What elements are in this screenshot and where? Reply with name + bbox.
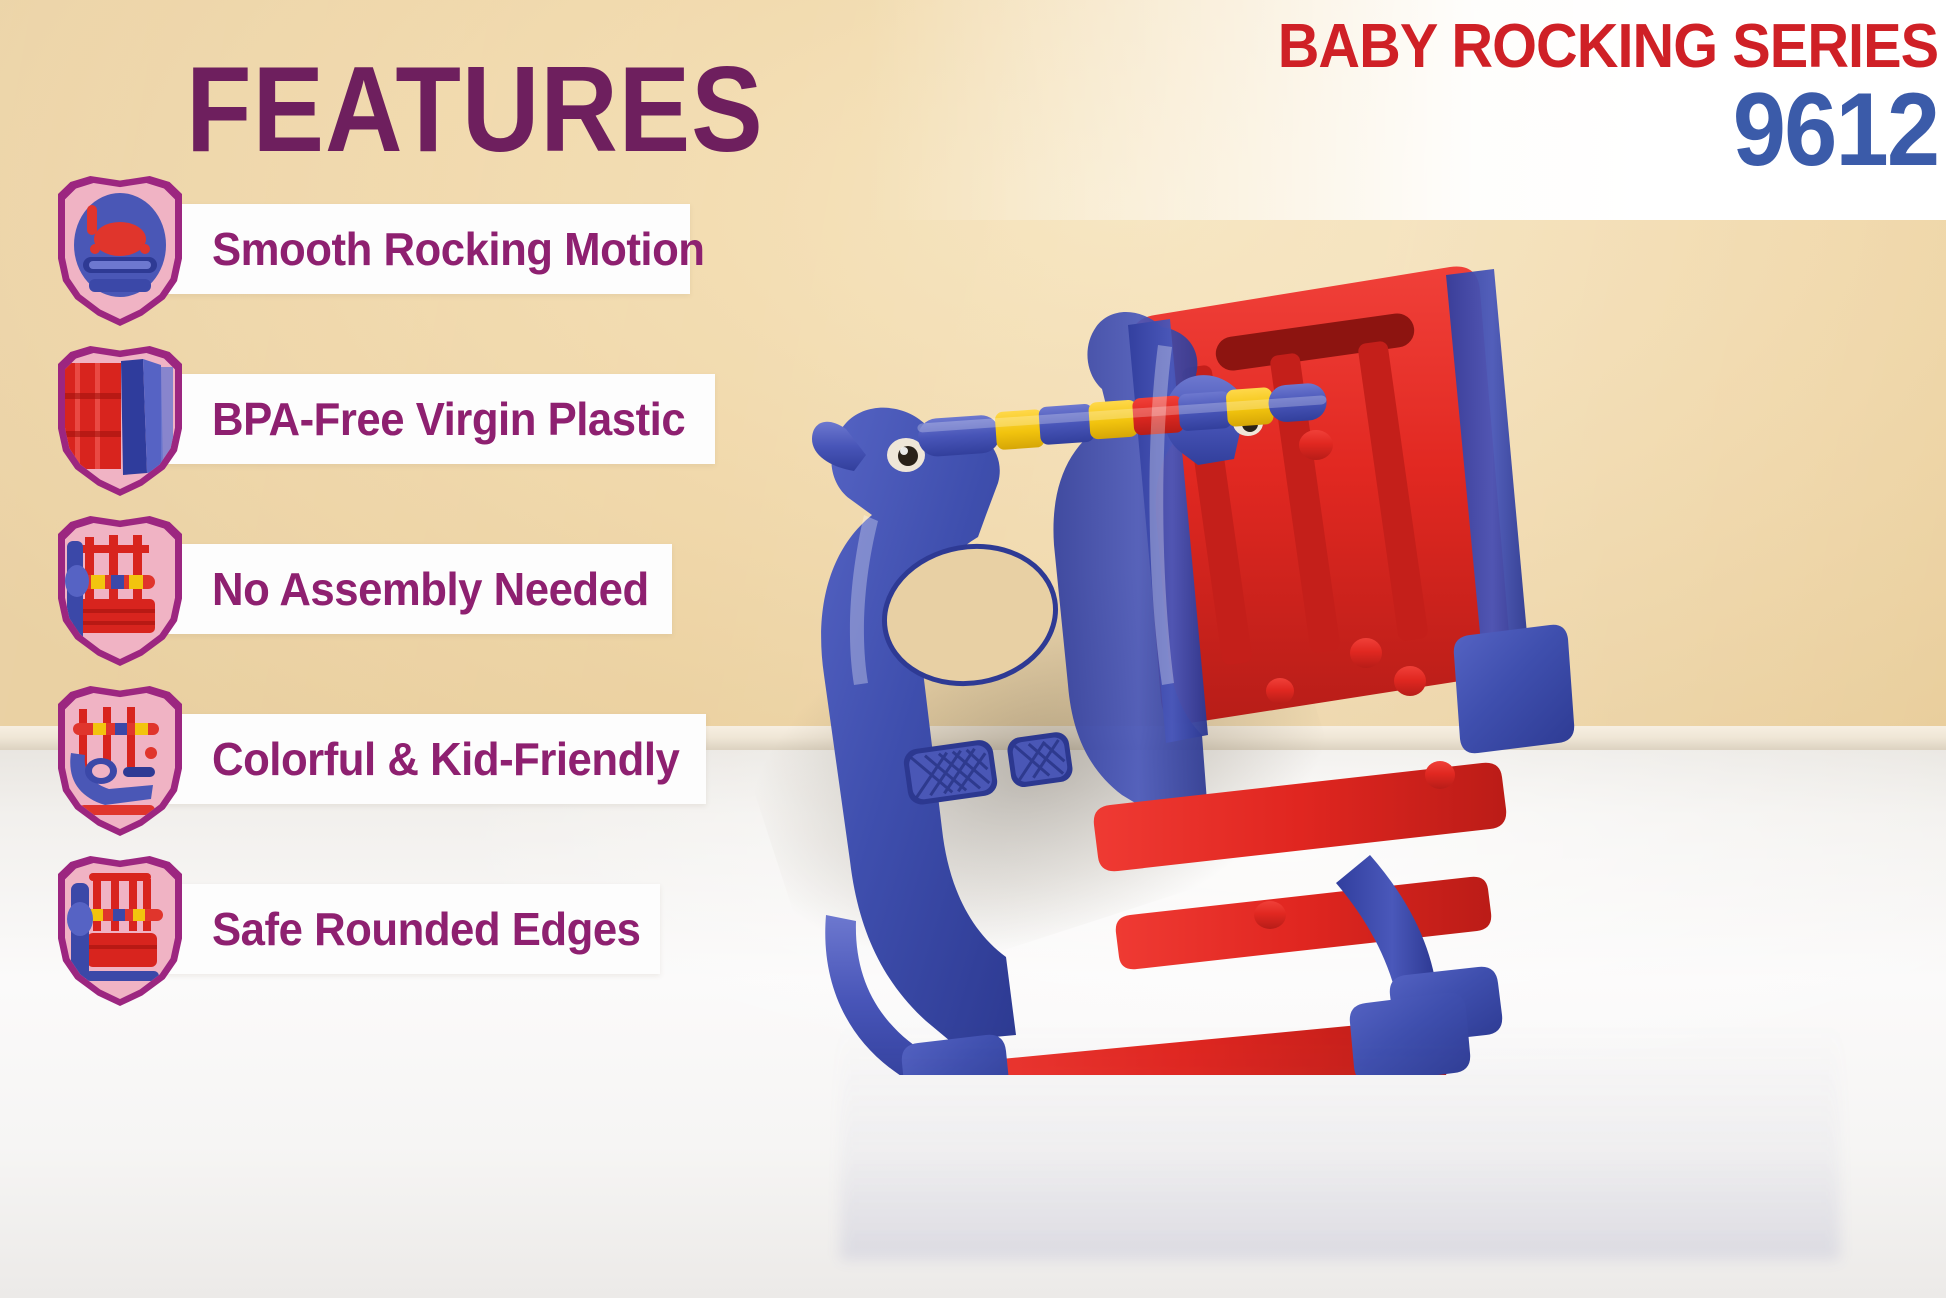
product-feature-poster: BABY ROCKING SERIES 9612 FEATURES <box>0 0 1946 1298</box>
feature-band: Smooth Rocking Motion <box>164 204 690 294</box>
feature-label-safe-rounded-edges: Safe Rounded Edges <box>212 902 641 956</box>
product-lower-rail <box>1116 877 1491 970</box>
shield-badge-no-assembly-needed <box>58 516 182 666</box>
feature-label-smooth-rocking-motion: Smooth Rocking Motion <box>212 222 705 276</box>
model-number: 9612 <box>1285 81 1938 180</box>
feature-band: No Assembly Needed <box>164 544 672 634</box>
product-rocking-chair-svg <box>810 215 1920 1075</box>
feature-label-no-assembly-needed: No Assembly Needed <box>212 562 649 616</box>
product-image <box>810 215 1920 1075</box>
feature-band: BPA-Free Virgin Plastic <box>164 374 715 464</box>
shield-badge-colorful-kid-friendly <box>58 686 182 836</box>
header-text-group: BABY ROCKING SERIES 9612 <box>1228 18 1938 180</box>
shield-badge-safe-rounded-edges <box>58 856 182 1006</box>
feature-label-bpa-free-virgin-plastic: BPA-Free Virgin Plastic <box>212 392 685 446</box>
feature-label-colorful-kid-friendly: Colorful & Kid-Friendly <box>212 732 679 786</box>
feature-band: Colorful & Kid-Friendly <box>164 714 706 804</box>
series-title: BABY ROCKING SERIES <box>1278 18 1938 77</box>
feature-band: Safe Rounded Edges <box>164 884 660 974</box>
shield-badge-bpa-free-virgin-plastic <box>58 346 182 496</box>
shield-badge-smooth-rocking-motion <box>58 176 182 326</box>
product-reflection <box>840 960 1840 1260</box>
page-title: FEATURES <box>186 48 764 170</box>
header-banner: BABY ROCKING SERIES 9612 <box>866 0 1946 220</box>
